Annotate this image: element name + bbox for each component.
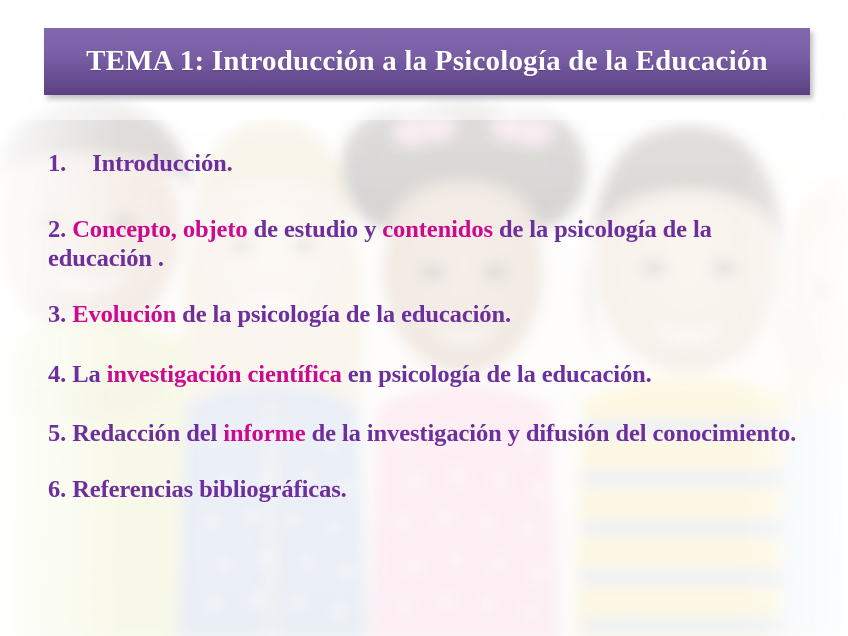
outline-text-highlight: contenidos <box>382 216 493 243</box>
outline-item-number: 4. <box>48 361 66 388</box>
outline-text-highlight: informe <box>223 420 305 447</box>
outline-item-5: 5. Redacción del informe de la investiga… <box>48 420 804 448</box>
outline-item-4: 4. La investigación científica en psicol… <box>48 361 804 389</box>
outline-text-highlight: Concepto, objeto <box>72 216 247 243</box>
outline-item-number: 2. <box>48 216 66 243</box>
outline-text-plain: de la investigación y difusión del conoc… <box>306 420 797 447</box>
slide-title-banner: TEMA 1: Introducción a la Psicología de … <box>44 28 810 95</box>
outline-item-number: 6. <box>48 476 66 503</box>
slide-outline-list: 1.Introducción.2. Concepto, objeto de es… <box>48 150 804 505</box>
outline-item-number: 3. <box>48 301 66 328</box>
outline-text-plain: Introducción. <box>92 150 233 177</box>
outline-item-3: 3. Evolución de la psicología de la educ… <box>48 301 804 329</box>
outline-text-plain: Referencias bibliográficas. <box>72 476 346 503</box>
outline-text-highlight: investigación científica <box>107 361 342 388</box>
outline-item-6: 6. Referencias bibliográficas. <box>48 476 804 504</box>
outline-text-plain: de la psicología de la educación. <box>176 301 511 328</box>
outline-item-1: 1.Introducción. <box>48 150 804 178</box>
presentation-slide: TEMA 1: Introducción a la Psicología de … <box>0 0 848 636</box>
outline-item-2: 2. Concepto, objeto de estudio y conteni… <box>48 216 804 273</box>
outline-item-number: 5. <box>48 420 66 447</box>
outline-item-number: 1. <box>48 150 66 177</box>
outline-text-plain: Redacción del <box>72 420 223 447</box>
outline-text-plain: en psicología de la educación. <box>342 361 652 388</box>
outline-text-highlight: Evolución <box>72 301 176 328</box>
outline-text-plain: de estudio y <box>248 216 383 243</box>
outline-text-plain: La <box>72 361 106 388</box>
slide-title: TEMA 1: Introducción a la Psicología de … <box>86 45 768 78</box>
